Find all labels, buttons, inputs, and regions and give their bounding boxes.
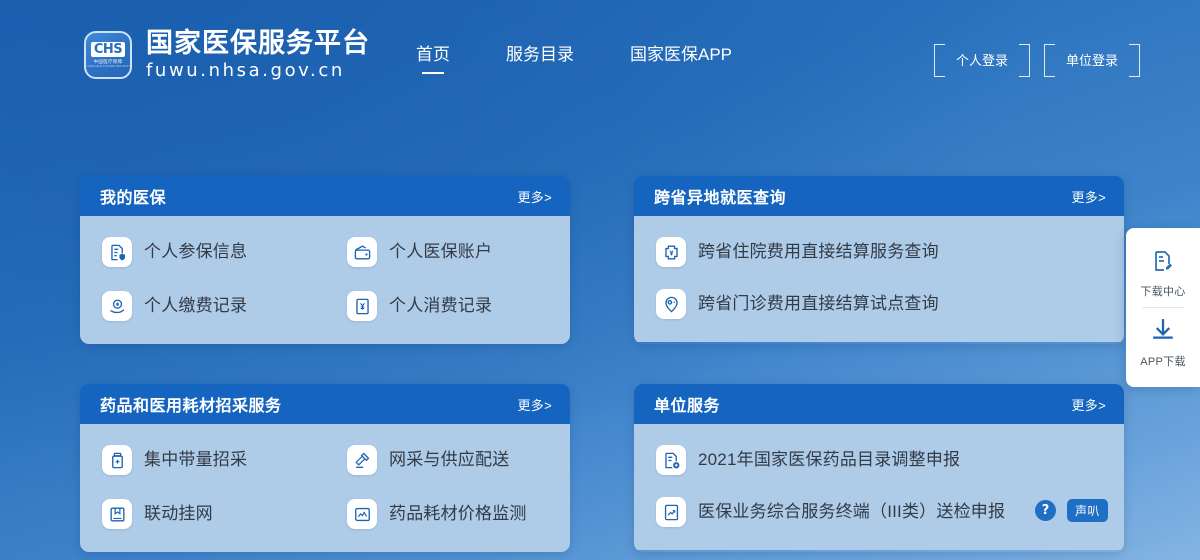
yuan-receipt-icon bbox=[347, 291, 377, 321]
service-item-inpatient-settlement-query[interactable]: 跨省住院费用直接结算服务查询 bbox=[634, 233, 1124, 271]
service-item-centralized-procurement[interactable]: 集中带量招采 bbox=[80, 441, 325, 479]
service-item-outpatient-settlement-query[interactable]: 跨省门诊费用直接结算试点查询 bbox=[634, 285, 1124, 323]
service-item-drug-catalog-declaration[interactable]: 2021年国家医保药品目录调整申报 bbox=[634, 441, 1124, 479]
login-button-group: 个人登录 单位登录 bbox=[920, 44, 1140, 75]
terminal-chart-icon bbox=[656, 497, 686, 527]
help-icon[interactable]: ? bbox=[1035, 500, 1056, 521]
service-item-label: 2021年国家医保药品目录调整申报 bbox=[698, 449, 960, 470]
site-title: 国家医保服务平台 bbox=[146, 29, 370, 58]
service-item-label: 个人消费记录 bbox=[389, 295, 492, 316]
service-item-personal-account[interactable]: 个人医保账户 bbox=[325, 233, 570, 271]
card-title: 跨省异地就医查询 bbox=[654, 184, 786, 208]
card-header: 我的医保 更多> bbox=[80, 176, 570, 216]
chs-logo-icon: CHS 中国医疗保障 CHINA HEALTHCARE SECURITY bbox=[84, 31, 132, 79]
brand-logo[interactable]: CHS 中国医疗保障 CHINA HEALTHCARE SECURITY 国家医… bbox=[84, 29, 370, 81]
logo-mark-text: CHS bbox=[91, 42, 125, 57]
download-arrow-icon bbox=[1150, 317, 1176, 348]
corner-widget-group: ? 声叭 bbox=[1035, 499, 1108, 522]
card-more-link[interactable]: 更多> bbox=[1072, 395, 1107, 414]
nav-item-app[interactable]: 国家医保APP bbox=[630, 40, 732, 74]
document-add-icon bbox=[656, 445, 686, 475]
sound-toggle-button[interactable]: 声叭 bbox=[1067, 499, 1108, 522]
card-body: 跨省住院费用直接结算服务查询 跨省门诊费用直接结算试点查询 bbox=[634, 216, 1124, 342]
side-item-label: APP下载 bbox=[1140, 353, 1186, 369]
card-title: 我的医保 bbox=[100, 184, 166, 208]
personal-login-button[interactable]: 个人登录 bbox=[934, 44, 1030, 75]
logo-cn-line1: 中国医疗保障 bbox=[94, 60, 123, 65]
gavel-icon bbox=[347, 445, 377, 475]
floating-side-panel: 下载中心 APP下载 bbox=[1126, 228, 1200, 387]
side-item-download-center[interactable]: 下载中心 bbox=[1126, 240, 1200, 307]
site-domain: fuwu.nhsa.gov.cn bbox=[146, 61, 370, 81]
nav-item-home[interactable]: 首页 bbox=[416, 40, 450, 74]
hospital-yuan-icon bbox=[656, 237, 686, 267]
service-item-label: 个人医保账户 bbox=[389, 241, 492, 262]
service-item-linked-listing[interactable]: 联动挂网 bbox=[80, 495, 325, 533]
card-title: 药品和医用耗材招采服务 bbox=[100, 392, 282, 416]
main-nav: 首页 服务目录 国家医保APP bbox=[416, 40, 732, 74]
service-item-label: 个人参保信息 bbox=[144, 241, 247, 262]
card-more-link[interactable]: 更多> bbox=[1072, 187, 1107, 206]
hand-coin-icon bbox=[102, 291, 132, 321]
card-my-insurance: 我的医保 更多> 个人参保信息 bbox=[80, 176, 570, 344]
card-cross-province-query: 跨省异地就医查询 更多> 跨省住院费用直接结算服务查询 bbox=[634, 176, 1124, 344]
service-item-price-monitoring[interactable]: 药品耗材价格监测 bbox=[325, 495, 570, 533]
location-pin-icon bbox=[656, 289, 686, 319]
service-item-label: 联动挂网 bbox=[144, 503, 213, 524]
organization-login-button[interactable]: 单位登录 bbox=[1044, 44, 1140, 75]
nav-item-service-catalog[interactable]: 服务目录 bbox=[506, 40, 574, 74]
document-download-icon bbox=[1151, 249, 1175, 278]
service-item-label: 医保业务综合服务终端（III类）送检申报 bbox=[698, 501, 1005, 522]
chart-monitor-icon bbox=[347, 499, 377, 529]
card-more-link[interactable]: 更多> bbox=[518, 395, 553, 414]
homepage-root: CHS 中国医疗保障 CHINA HEALTHCARE SECURITY 国家医… bbox=[0, 0, 1200, 560]
medicine-bottle-icon bbox=[102, 445, 132, 475]
card-body: 个人参保信息 个人医保账户 bbox=[80, 216, 570, 344]
side-item-app-download[interactable]: APP下载 bbox=[1126, 308, 1200, 377]
wallet-icon bbox=[347, 237, 377, 267]
service-item-label: 跨省住院费用直接结算服务查询 bbox=[698, 241, 939, 262]
card-title: 单位服务 bbox=[654, 392, 720, 416]
service-item-label: 网采与供应配送 bbox=[389, 449, 509, 470]
site-header: CHS 中国医疗保障 CHINA HEALTHCARE SECURITY 国家医… bbox=[0, 0, 1200, 110]
card-header: 跨省异地就医查询 更多> bbox=[634, 176, 1124, 216]
card-organization-service: 单位服务 更多> 2021年国家医保药品目录调整申报 bbox=[634, 384, 1124, 552]
card-body: 集中带量招采 网采与供应配送 bbox=[80, 424, 570, 552]
service-item-label: 跨省门诊费用直接结算试点查询 bbox=[698, 293, 939, 314]
service-item-label: 药品耗材价格监测 bbox=[389, 503, 527, 524]
book-save-icon bbox=[102, 499, 132, 529]
service-item-payment-records[interactable]: 个人缴费记录 bbox=[80, 287, 325, 325]
card-drug-procurement: 药品和医用耗材招采服务 更多> 集中带量招采 bbox=[80, 384, 570, 552]
card-body: 2021年国家医保药品目录调整申报 医保业务综合服务终端（III类）送检申报 bbox=[634, 424, 1124, 550]
service-item-online-supply-delivery[interactable]: 网采与供应配送 bbox=[325, 441, 570, 479]
card-header: 单位服务 更多> bbox=[634, 384, 1124, 424]
service-item-consumption-records[interactable]: 个人消费记录 bbox=[325, 287, 570, 325]
side-item-label: 下载中心 bbox=[1140, 283, 1185, 299]
document-shield-icon bbox=[102, 237, 132, 267]
service-item-label: 集中带量招采 bbox=[144, 449, 247, 470]
logo-cn-line2: CHINA HEALTHCARE SECURITY bbox=[86, 66, 131, 69]
service-item-personal-insurance-info[interactable]: 个人参保信息 bbox=[80, 233, 325, 271]
service-card-grid: 我的医保 更多> 个人参保信息 bbox=[80, 176, 1124, 552]
card-header: 药品和医用耗材招采服务 更多> bbox=[80, 384, 570, 424]
brand-text-block: 国家医保服务平台 fuwu.nhsa.gov.cn bbox=[146, 29, 370, 81]
card-more-link[interactable]: 更多> bbox=[518, 187, 553, 206]
service-item-label: 个人缴费记录 bbox=[144, 295, 247, 316]
